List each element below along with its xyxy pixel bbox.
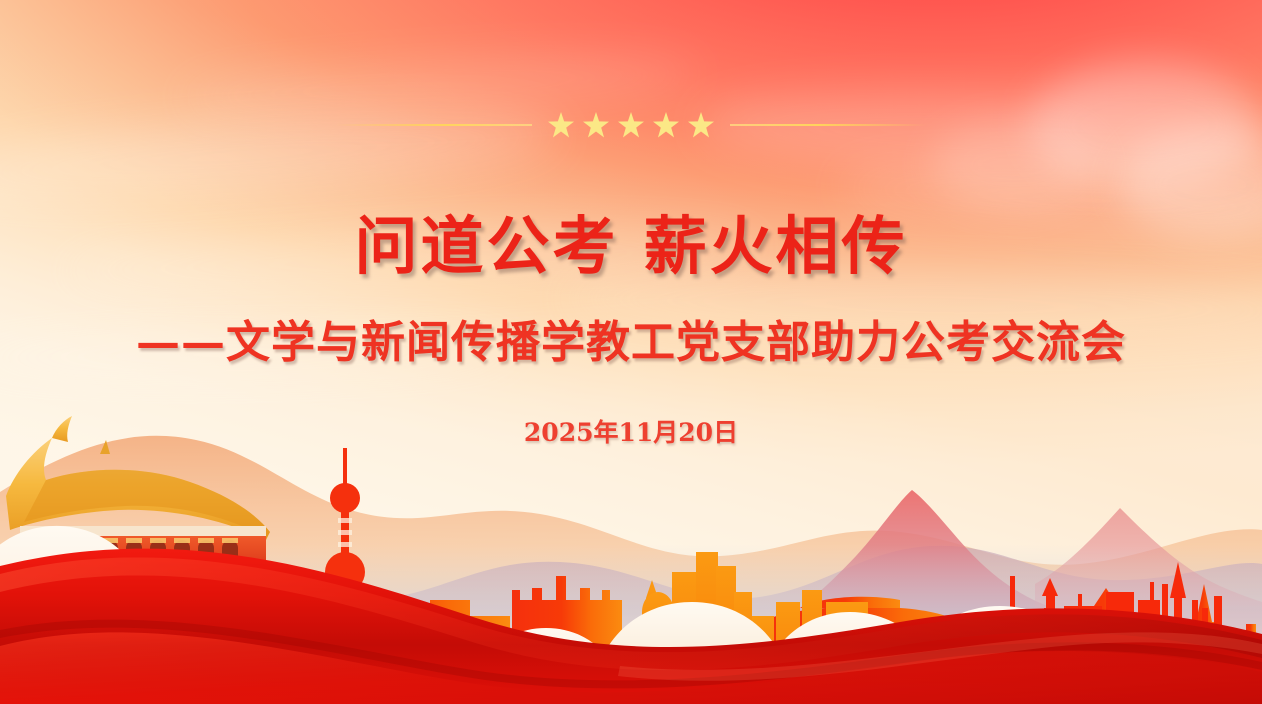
decoration-line-right	[730, 124, 926, 126]
star-icon	[618, 112, 644, 138]
star-icon	[583, 112, 609, 138]
red-silk-ribbon	[0, 504, 1262, 704]
poster-subtitle: ——文学与新闻传播学教工党支部助力公考交流会	[0, 306, 1262, 370]
decoration-line-left	[336, 124, 532, 126]
star-icon	[653, 112, 679, 138]
five-stars	[548, 112, 714, 138]
star-decoration-row	[0, 112, 1262, 138]
poster-date: 2025年11月20日	[0, 413, 1262, 449]
star-icon	[688, 112, 714, 138]
poster-slide: 问道公考 薪火相传 ——文学与新闻传播学教工党支部助力公考交流会 2025年11…	[0, 0, 1262, 704]
poster-title: 问道公考 薪火相传	[0, 196, 1262, 287]
star-icon	[548, 112, 574, 138]
